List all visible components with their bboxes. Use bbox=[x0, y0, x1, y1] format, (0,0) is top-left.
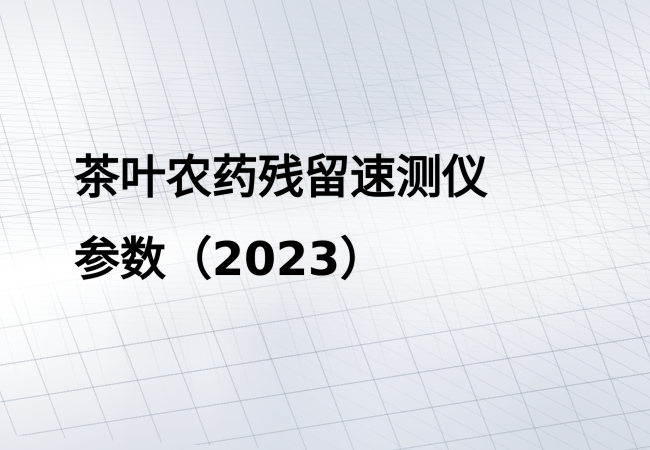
title-line-secondary: 参数（2023） bbox=[74, 218, 488, 300]
title-line-primary: 茶叶农药残留速测仪 bbox=[74, 136, 488, 218]
page-title: 茶叶农药残留速测仪 参数（2023） bbox=[74, 136, 488, 300]
title-banner: 茶叶农药残留速测仪 参数（2023） bbox=[0, 0, 650, 450]
